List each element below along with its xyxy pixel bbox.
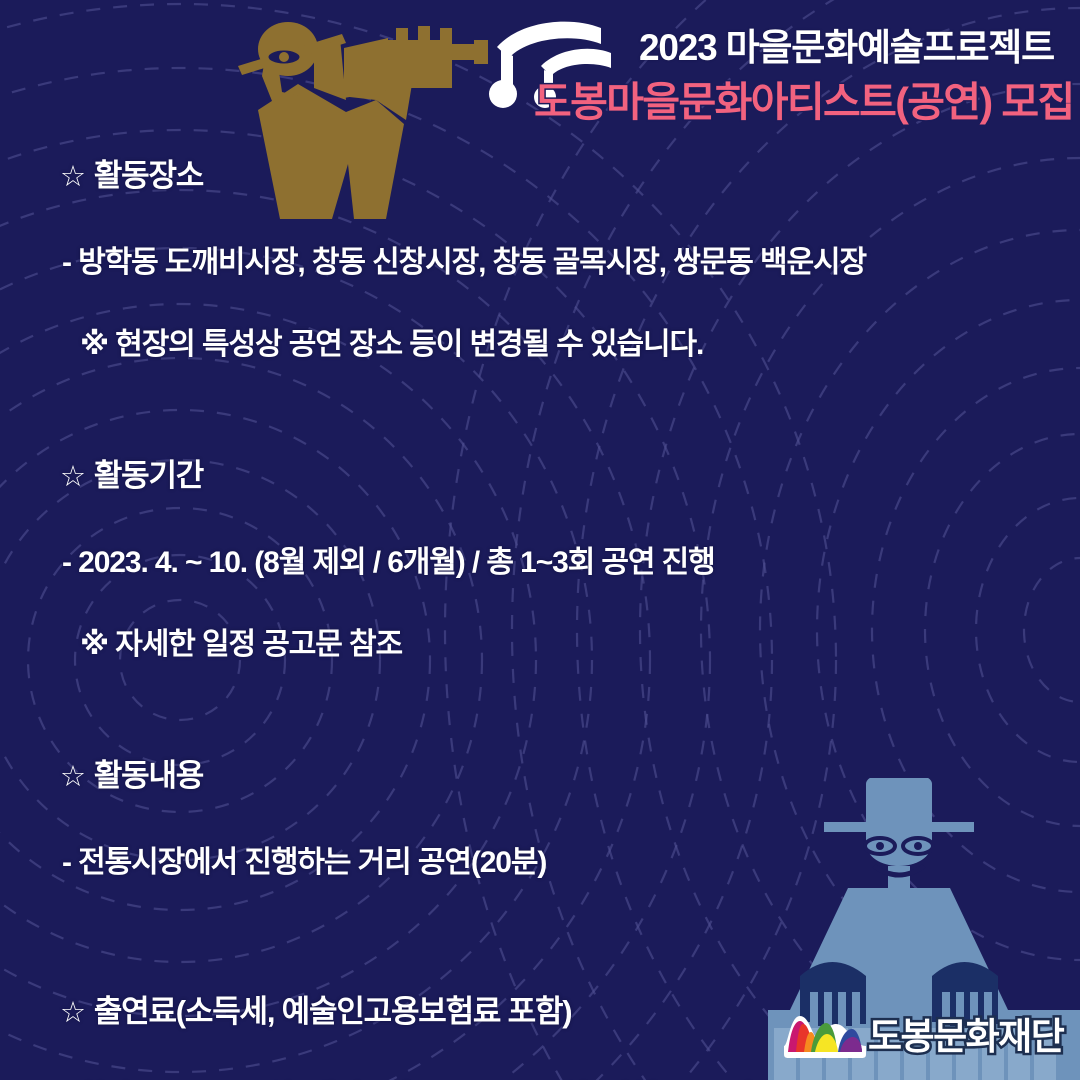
star-icon: ☆ — [60, 163, 85, 192]
project-subtitle: 2023 마을문화예술프로젝트 — [534, 28, 1054, 68]
star-icon: ☆ — [60, 463, 85, 492]
section-heading-label: 활동내용 — [94, 760, 203, 791]
section-heading: ☆ 활동장소 — [0, 160, 1080, 192]
section-activity-period: ☆ 활동기간 - 2023. 4. ~ 10. (8월 제외 / 6개월) / … — [0, 460, 1080, 660]
page-title: 도봉마을문화아티스트(공연) 모집 — [534, 80, 1054, 124]
section-heading-label: 활동기간 — [94, 460, 203, 491]
dobong-mountain-logo-icon — [782, 1012, 868, 1060]
section-note: ※ 현장의 특성상 공연 장소 등이 변경될 수 있습니다. — [0, 330, 1080, 360]
section-note: ※ 자세한 일정 공고문 참조 — [0, 630, 1080, 660]
poster-canvas: 2023 마을문화예술프로젝트 도봉마을문화아티스트(공연) 모집 ☆ 활동장소… — [0, 0, 1080, 1080]
poster-header: 2023 마을문화예술프로젝트 도봉마을문화아티스트(공연) 모집 — [0, 0, 1080, 160]
section-heading-label: 활동장소 — [94, 160, 203, 191]
section-line: - 2023. 4. ~ 10. (8월 제외 / 6개월) / 총 1~3회 … — [0, 548, 1080, 578]
foundation-name: 도봉문화재단 — [868, 1018, 1063, 1055]
section-heading-label: 출연료(소득세, 예술인고용보험료 포함) — [94, 996, 572, 1027]
star-icon: ☆ — [60, 763, 85, 792]
section-line: - 방학동 도깨비시장, 창동 신창시장, 창동 골목시장, 쌍문동 백운시장 — [0, 248, 1080, 278]
header-titles: 2023 마을문화예술프로젝트 도봉마을문화아티스트(공연) 모집 — [534, 28, 1054, 124]
section-activity-location: ☆ 활동장소 - 방학동 도깨비시장, 창동 신창시장, 창동 골목시장, 쌍문… — [0, 160, 1080, 360]
section-heading: ☆ 활동기간 — [0, 460, 1080, 492]
star-icon: ☆ — [60, 999, 85, 1028]
